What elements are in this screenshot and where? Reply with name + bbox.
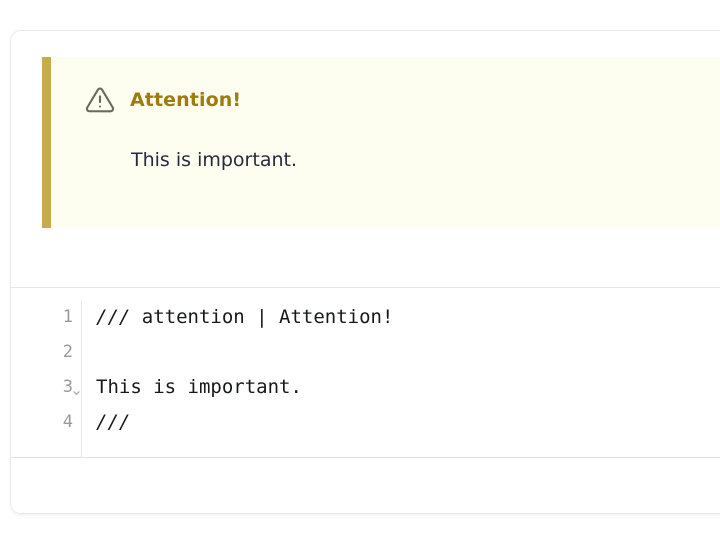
chevron-down-icon[interactable]: ⌄ — [70, 382, 83, 395]
example-card: Attention! This is important. 123⌄4 /// … — [10, 30, 720, 514]
code-token-text: attention | Attention! — [130, 308, 393, 327]
admonition-title: Attention! — [130, 89, 241, 111]
admonition-attention: Attention! This is important. — [42, 57, 720, 228]
code-line[interactable]: /// attention | Attention! — [96, 300, 720, 335]
line-number-gutter: 123⌄4 — [11, 300, 82, 457]
warning-triangle-icon — [85, 85, 115, 115]
page-root: Attention! This is important. 123⌄4 /// … — [0, 0, 720, 544]
code-token-text: This is important. — [96, 378, 302, 397]
card-footer — [11, 459, 720, 513]
line-number: 2 — [63, 344, 73, 361]
code-editor[interactable]: 123⌄4 /// attention | Attention! This is… — [11, 289, 720, 458]
code-line[interactable]: This is important. — [96, 370, 720, 405]
code-line[interactable] — [96, 335, 720, 370]
gutter-row: 2 — [11, 335, 81, 370]
gutter-row: 4 — [11, 405, 81, 440]
preview-pane: Attention! This is important. — [11, 31, 720, 288]
code-token-fence: /// — [96, 308, 130, 327]
code-token-fence: /// — [96, 413, 130, 432]
code-line[interactable]: /// — [96, 405, 720, 440]
code-content-area[interactable]: /// attention | Attention! This is impor… — [82, 300, 720, 457]
admonition-header: Attention! — [85, 85, 241, 115]
admonition-body-text: This is important. — [131, 149, 297, 171]
line-number: 4 — [63, 414, 73, 431]
line-number: 1 — [63, 309, 73, 326]
gutter-row: 3⌄ — [11, 370, 81, 405]
gutter-row: 1 — [11, 300, 81, 335]
code-editor-inner: 123⌄4 /// attention | Attention! This is… — [11, 300, 720, 457]
